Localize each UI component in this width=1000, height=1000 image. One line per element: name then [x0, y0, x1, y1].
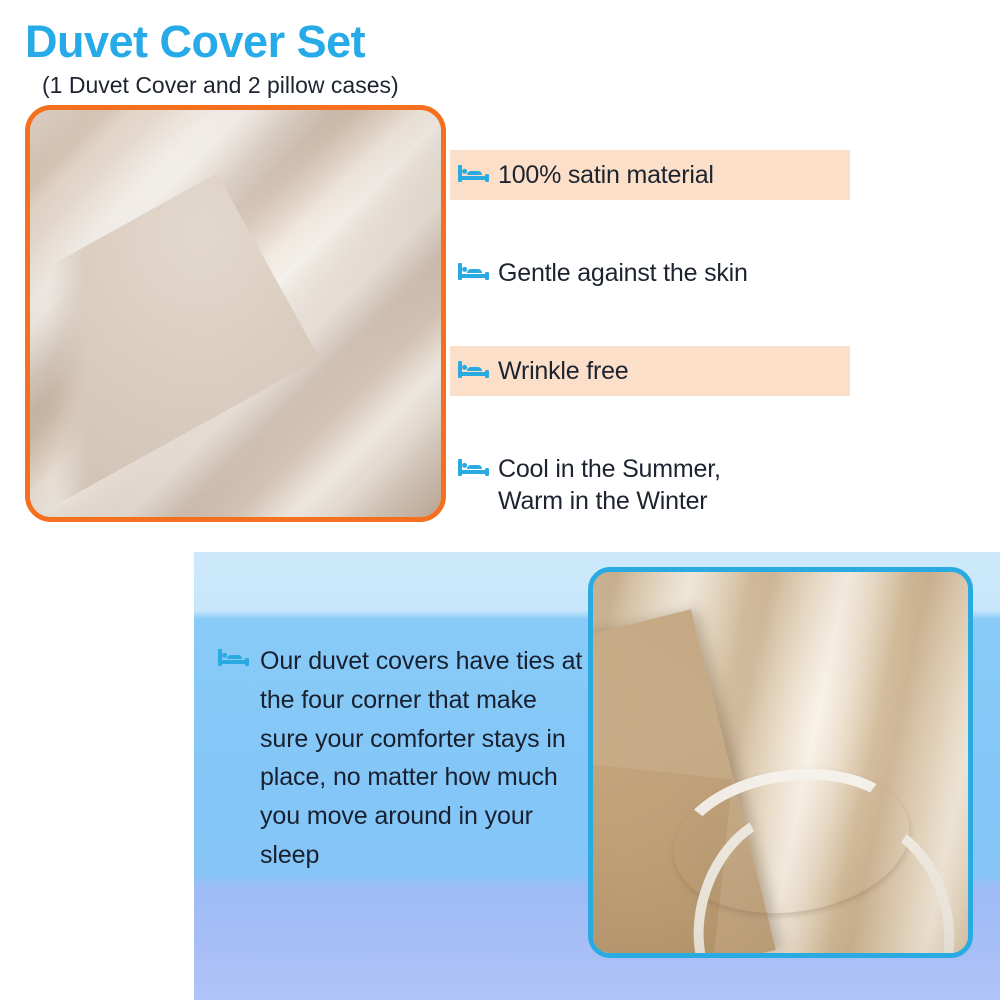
feature-label: Wrinkle free — [498, 355, 629, 387]
feature-label: Gentle against the skin — [498, 257, 748, 289]
bed-icon — [458, 159, 498, 184]
satin-vignette — [30, 110, 441, 517]
tie-description-label: Our duvet covers have ties at the four c… — [260, 642, 588, 875]
infographic-root: Duvet Cover Set (1 Duvet Cover and 2 pil… — [0, 0, 1000, 1000]
bed-icon — [458, 355, 498, 380]
bed-icon — [218, 642, 260, 668]
tie-feature-panel: Our duvet covers have ties at the four c… — [194, 552, 1000, 1000]
satin-fabric-image — [25, 105, 446, 522]
tie-vignette — [593, 572, 968, 953]
feature-list: 100% satin material Gentle against the s… — [450, 150, 850, 526]
page-title: Duvet Cover Set — [25, 16, 365, 68]
feature-item-2: Gentle against the skin — [450, 248, 850, 298]
tie-detail-image — [588, 567, 973, 958]
satin-fabric-inner — [30, 110, 441, 517]
feature-gap-1 — [450, 200, 850, 248]
feature-item-1: 100% satin material — [450, 150, 850, 200]
feature-label: Cool in the Summer, Warm in the Winter — [498, 453, 721, 517]
tie-detail-inner — [593, 572, 968, 953]
feature-label: 100% satin material — [498, 159, 714, 191]
tie-description: Our duvet covers have ties at the four c… — [218, 642, 588, 875]
feature-item-4: Cool in the Summer, Warm in the Winter — [450, 444, 850, 526]
bed-icon — [458, 453, 498, 478]
bed-icon — [458, 257, 498, 282]
feature-item-3: Wrinkle free — [450, 346, 850, 396]
feature-gap-2 — [450, 298, 850, 346]
page-subtitle: (1 Duvet Cover and 2 pillow cases) — [42, 72, 399, 99]
feature-gap-3 — [450, 396, 850, 444]
